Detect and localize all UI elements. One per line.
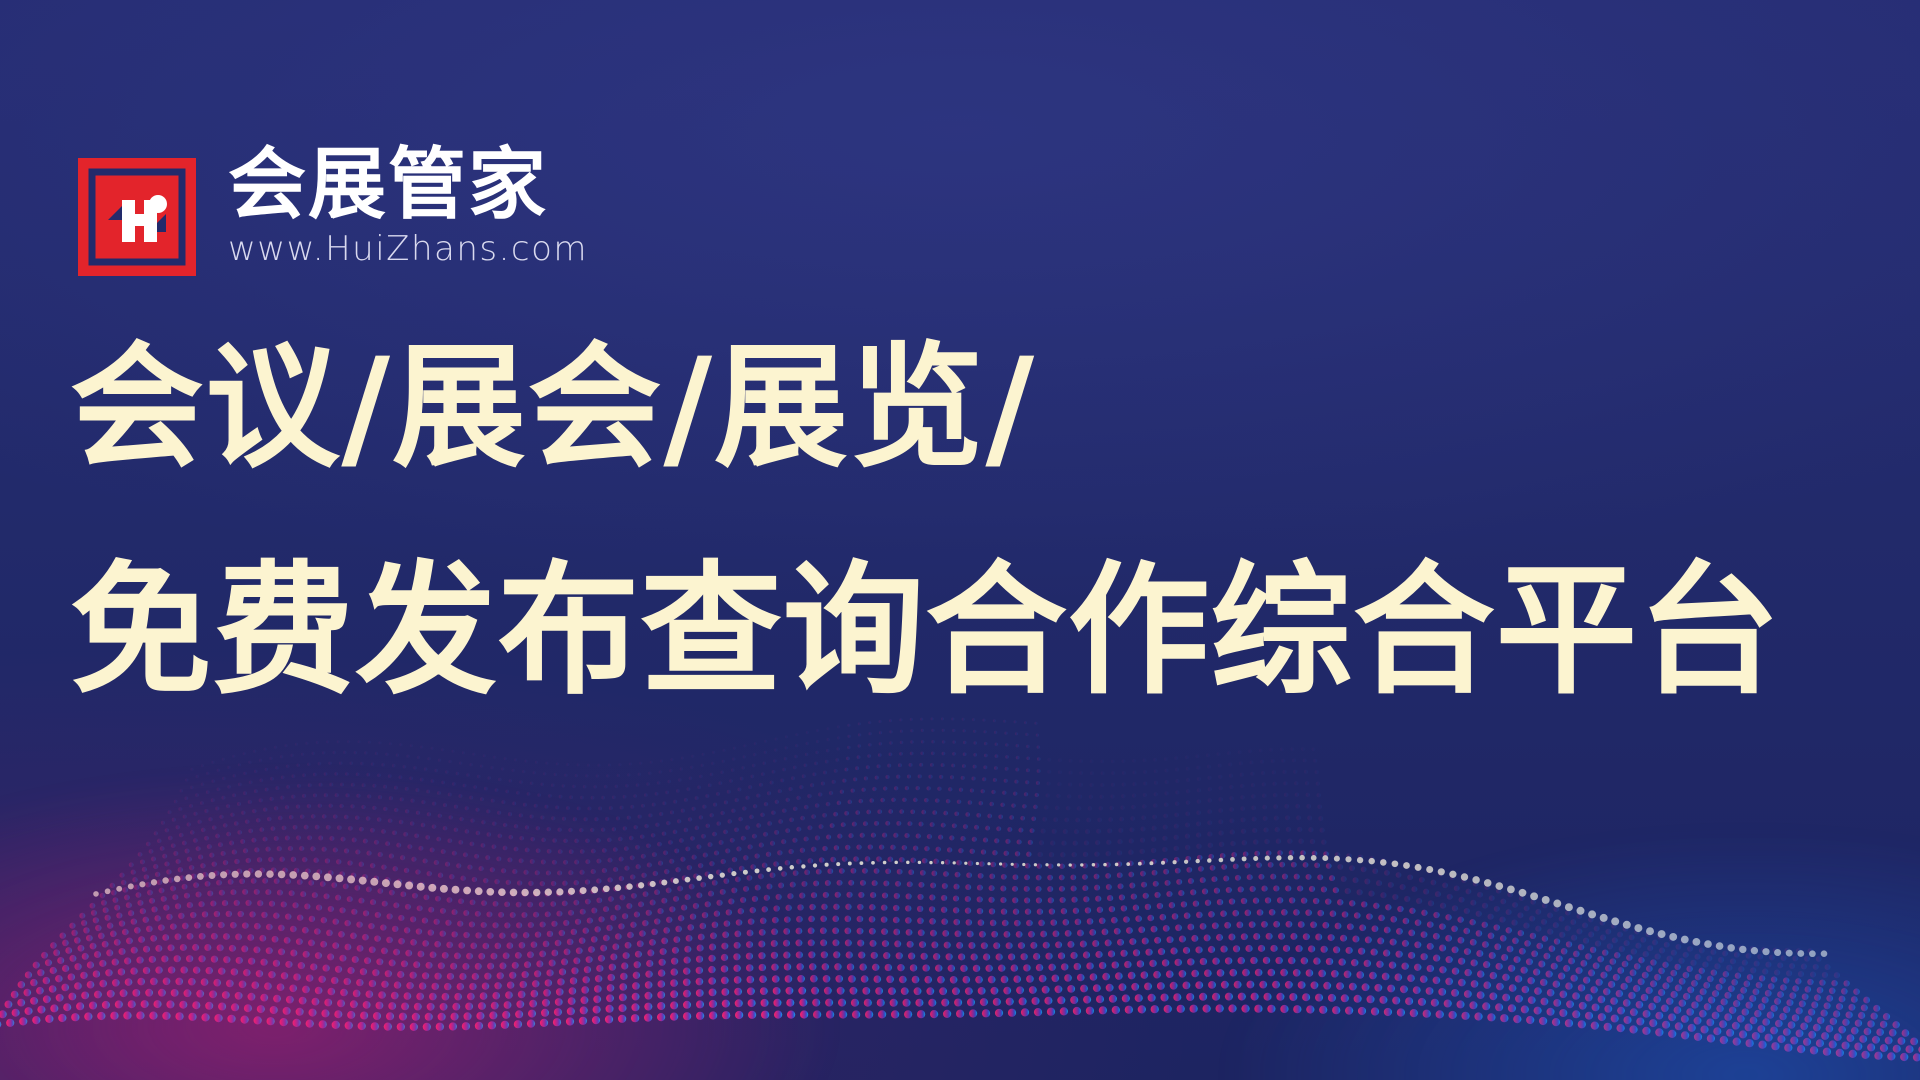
headline-line-2: 免费发布查询合作综合平台 [70, 559, 1812, 702]
brand-name-cn: 会展管家 [228, 150, 588, 222]
wave-glow-blue [1200, 820, 1920, 1080]
wave-glow-magenta [0, 760, 860, 1080]
brand-logo[interactable]: 会展管家 www.HuiZhans.com [78, 150, 588, 276]
promo-banner: 会展管家 www.HuiZhans.com 会议/展会/展览/ 免费发布查询合作… [0, 0, 1920, 1080]
particle-wave-decoration [0, 660, 1920, 1080]
headline-line-1: 会议/展会/展览/ [70, 340, 1812, 475]
huizhans-hi-monogram-icon [78, 158, 196, 276]
brand-website-url[interactable]: www.HuiZhans.com [228, 232, 588, 266]
headline-block: 会议/展会/展览/ 免费发布查询合作综合平台 [70, 340, 1830, 702]
brand-text-group: 会展管家 www.HuiZhans.com [228, 150, 588, 266]
